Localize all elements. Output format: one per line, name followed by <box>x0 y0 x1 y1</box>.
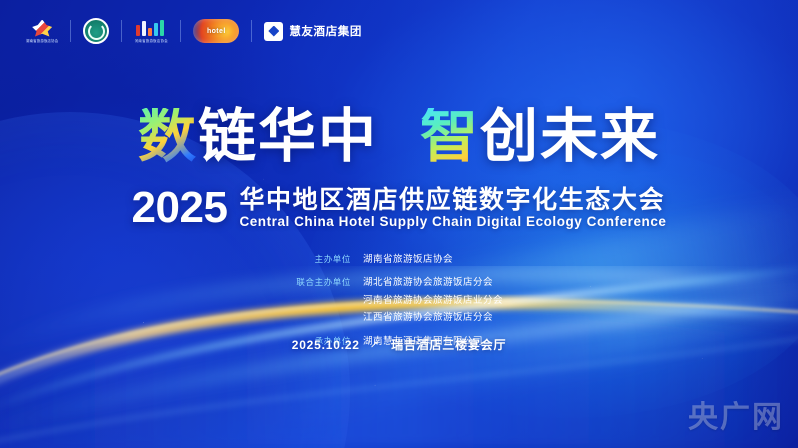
credit-label: 联合主办单位 <box>267 275 351 289</box>
logo-huiyou-hotel-group[interactable]: 慧友酒店集团 <box>252 14 374 48</box>
poster-headline: 数链华中智创未来 <box>0 108 798 166</box>
logo-caption: 河南省旅游饭店协会 <box>135 38 168 43</box>
headline-gradient-char-2: 智 <box>420 108 480 166</box>
sponsor-logo-bar: 湖南省旅游饭店协会 河南省旅游饭店协会 hotel <box>14 14 374 48</box>
huiyou-group-wordmark: 慧友酒店集团 <box>289 23 362 39</box>
logo-henan-tourism-association[interactable]: 河南省旅游饭店协会 <box>122 14 180 48</box>
conference-name-en: Central China Hotel Supply Chain Digital… <box>239 215 666 229</box>
channel-watermark: 央广网 <box>688 392 784 436</box>
credit-value: 湖北省旅游协会旅游饭店分会 <box>351 275 493 290</box>
credit-row: 主办单位 湖南省旅游饭店协会 <box>267 252 531 267</box>
conference-name-cn: 华中地区酒店供应链数字化生态大会 <box>239 187 666 213</box>
credit-value: 湖南省旅游饭店协会 <box>351 252 453 267</box>
poster-subtitle: 2025 华中地区酒店供应链数字化生态大会 Central China Hote… <box>0 186 798 230</box>
credit-row: 联合主办单位 湖北省旅游协会旅游饭店分会 <box>267 275 531 290</box>
credit-value: 河南省旅游协会旅游饭店业分会 <box>351 293 503 308</box>
color-bars-icon <box>134 20 168 36</box>
diamond-mark-icon <box>264 22 283 41</box>
event-datetime-venue: 2025.10.22 瑞吉酒店三楼宴会厅 <box>0 336 798 353</box>
credit-value: 江西省旅游协会旅游饭店分会 <box>351 310 493 325</box>
headline-plain-1: 链华中 <box>198 108 378 166</box>
organizer-credits: 主办单位 湖南省旅游饭店协会 联合主办单位 湖北省旅游协会旅游饭店分会 联合主办… <box>0 252 798 349</box>
logo-hunan-tourism-hotel-association[interactable]: 湖南省旅游饭店协会 <box>14 14 70 48</box>
headline-plain-2: 创未来 <box>480 108 660 166</box>
globe-badge-icon: hotel <box>193 19 239 43</box>
logo-caption: 湖南省旅游饭店协会 <box>26 38 58 43</box>
event-date: 2025.10.22 <box>292 338 360 352</box>
logo-jiangxi-tourism-association[interactable]: hotel <box>181 14 251 48</box>
logo-hubei-tourism-association[interactable] <box>71 14 121 48</box>
credit-row: 联合主办单位 江西省旅游协会旅游饭店分会 <box>267 310 531 325</box>
event-venue: 瑞吉酒店三楼宴会厅 <box>391 338 506 352</box>
star-mountain-icon <box>32 20 52 37</box>
event-year: 2025 <box>132 186 228 230</box>
credit-label: 主办单位 <box>267 252 351 266</box>
globe-badge-text: hotel <box>207 28 226 35</box>
circular-seal-icon <box>83 18 109 44</box>
headline-gradient-char-1: 数 <box>138 108 198 166</box>
location-pin-icon <box>370 339 381 353</box>
credit-row: 联合主办单位 河南省旅游协会旅游饭店业分会 <box>267 293 531 308</box>
poster-canvas: 湖南省旅游饭店协会 河南省旅游饭店协会 hotel <box>0 0 798 448</box>
